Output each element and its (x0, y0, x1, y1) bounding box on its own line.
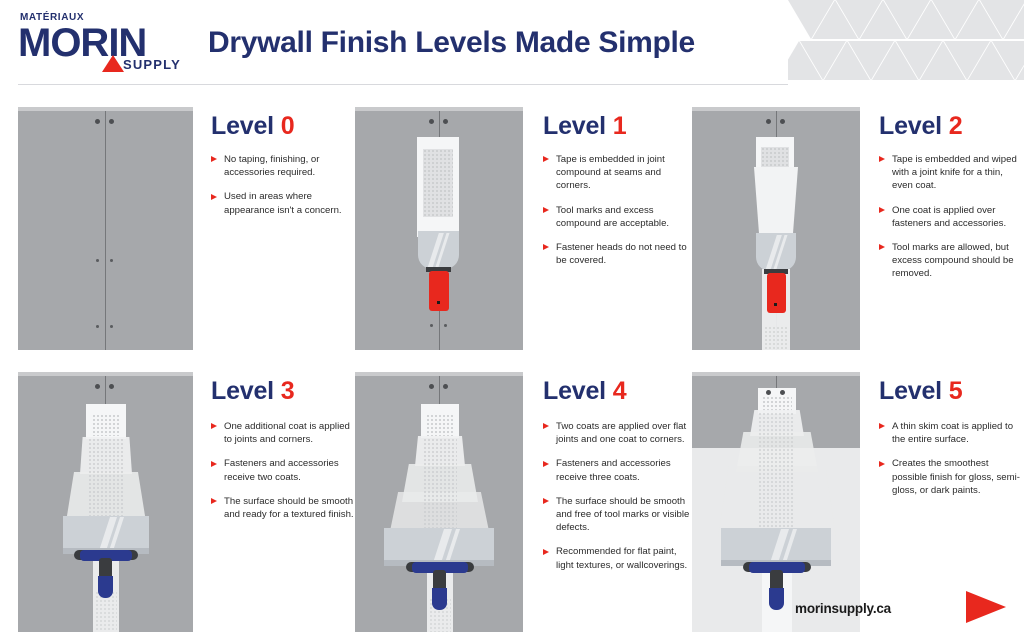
level-label: Level (543, 377, 606, 405)
trowel-grip-end (432, 588, 447, 610)
bullet-triangle-icon (211, 156, 217, 162)
screw-icon (110, 259, 113, 262)
tape-texture (92, 414, 120, 436)
bullet-text: One additional coat is applied to joints… (224, 421, 350, 445)
bullet-triangle-icon (879, 423, 885, 429)
level-card-0: Level 0 No taping, finishing, or accesso… (18, 107, 348, 350)
level-bullets-4: Two coats are applied over flat joints a… (543, 420, 691, 572)
bullet-triangle-icon (211, 461, 217, 467)
level-number: 1 (613, 112, 627, 140)
level-heading-5: Level 5 (879, 377, 962, 406)
level-card-3: Level 3 One additional coat is applied t… (18, 372, 348, 632)
wall-seam (105, 111, 106, 350)
level-text-1: Level 1 Tape is embedded in joint compou… (543, 112, 688, 278)
trowel-grip-end (769, 588, 784, 610)
level-text-4: Level 4 Two coats are applied over flat … (543, 420, 691, 583)
level-label: Level (879, 377, 942, 405)
bullet-triangle-icon (543, 461, 549, 467)
screw-icon (96, 325, 99, 328)
triangle-icon (1016, 41, 1024, 80)
tape-texture (762, 396, 792, 412)
level-bullets-0: No taping, finishing, or accessories req… (211, 153, 351, 217)
footer-website-url[interactable]: morinsupply.ca (795, 601, 891, 616)
bullet-triangle-icon (543, 423, 549, 429)
bullet-triangle-icon (879, 461, 885, 467)
knife-handle (767, 273, 786, 313)
screw-icon (109, 384, 114, 389)
list-item: The surface should be smooth and ready f… (211, 495, 354, 521)
page-title: Drywall Finish Levels Made Simple (208, 26, 695, 60)
list-item: Recommended for flat paint, light textur… (543, 545, 691, 571)
bullet-triangle-icon (211, 423, 217, 429)
level-label: Level (211, 377, 274, 405)
level-text-3: Level 3 One additional coat is applied t… (211, 420, 354, 532)
screw-icon (109, 119, 114, 124)
bullet-triangle-icon (543, 498, 549, 504)
level-text-2: Level 2 Tape is embedded and wiped with … (879, 112, 1024, 292)
level-number: 5 (949, 377, 963, 405)
bullet-text: Fasteners and accessories receive two co… (224, 458, 339, 482)
bullet-text: Tape is embedded and wiped with a joint … (892, 154, 1017, 191)
list-item: No taping, finishing, or accessories req… (211, 153, 351, 179)
list-item: A thin skim coat is applied to the entir… (879, 420, 1024, 446)
screw-icon (429, 384, 434, 389)
screw-icon (95, 384, 100, 389)
screw-icon (443, 384, 448, 389)
list-item: Fastener heads do not need to be covered… (543, 241, 688, 267)
tape-texture (758, 412, 794, 538)
bullet-text: A thin skim coat is applied to the entir… (892, 421, 1013, 445)
list-item: One additional coat is applied to joints… (211, 420, 354, 446)
level-bullets-5: A thin skim coat is applied to the entir… (879, 420, 1024, 497)
bullet-triangle-icon (879, 156, 885, 162)
logo-tagline: SUPPLY (123, 57, 181, 72)
screw-icon (96, 259, 99, 262)
header-divider (18, 84, 788, 85)
list-item: Fasteners and accessories receive two co… (211, 457, 354, 483)
logo-triangle-icon (102, 55, 124, 72)
screw-icon (430, 324, 433, 327)
bullet-text: No taping, finishing, or accessories req… (224, 154, 319, 178)
list-item: Creates the smoothest possible finish fo… (879, 457, 1024, 497)
bullet-text: Tape is embedded in joint compound at se… (556, 154, 665, 191)
level-illustration-3 (18, 372, 193, 632)
level-label: Level (543, 112, 606, 140)
level-illustration-5 (692, 372, 860, 632)
list-item: Fasteners and accessories receive three … (543, 457, 691, 483)
bullet-text: Creates the smoothest possible finish fo… (892, 458, 1020, 495)
level-heading-3: Level 3 (211, 377, 294, 406)
level-text-5: Level 5 A thin skim coat is applied to t… (879, 420, 1024, 508)
level-label: Level (879, 112, 942, 140)
bullet-text: Fastener heads do not need to be covered… (556, 242, 687, 266)
header: MATÉRIAUX MORIN SUPPLY Drywall Finish Le… (0, 0, 1024, 86)
screw-icon (780, 390, 785, 395)
tape-texture (761, 147, 789, 167)
level-number: 3 (281, 377, 295, 405)
level-text-0: Level 0 No taping, finishing, or accesso… (211, 112, 351, 228)
list-item: Tool marks are allowed, but excess compo… (879, 241, 1024, 281)
bullet-triangle-icon (879, 244, 885, 250)
bullet-triangle-icon (211, 498, 217, 504)
level-label: Level (211, 112, 274, 140)
company-logo: MATÉRIAUX MORIN SUPPLY (18, 12, 183, 74)
list-item: Tape is embedded in joint compound at se… (543, 153, 688, 193)
bullet-text: The surface should be smooth and ready f… (224, 496, 354, 520)
tape-texture (88, 438, 124, 524)
list-item: Used in areas where appearance isn't a c… (211, 190, 351, 216)
screw-icon (766, 119, 771, 124)
level-bullets-3: One additional coat is applied to joints… (211, 420, 354, 521)
bullet-text: Tool marks and excess compound are accep… (556, 205, 669, 229)
level-bullets-2: Tape is embedded and wiped with a joint … (879, 153, 1024, 281)
level-number: 4 (613, 377, 627, 405)
screw-icon (766, 390, 771, 395)
tape-texture (423, 438, 457, 538)
level-card-1: Level 1 Tape is embedded in joint compou… (355, 107, 690, 350)
bullet-text: Recommended for flat paint, light textur… (556, 546, 687, 570)
tape-texture (764, 326, 788, 350)
list-item: The surface should be smooth and free of… (543, 495, 691, 535)
bullet-triangle-icon (543, 156, 549, 162)
level-card-2: Level 2 Tape is embedded and wiped with … (692, 107, 1024, 350)
bullet-triangle-icon (211, 194, 217, 200)
footer-arrow-icon (966, 591, 1006, 623)
list-item: Tape is embedded and wiped with a joint … (879, 153, 1024, 193)
bullet-triangle-icon (543, 549, 549, 555)
bullet-triangle-icon (879, 207, 885, 213)
screw-icon (110, 325, 113, 328)
bullet-text: One coat is applied over fasteners and a… (892, 205, 1006, 229)
triangle-pattern-decoration (788, 0, 1024, 80)
bullet-triangle-icon (543, 244, 549, 250)
level-illustration-4 (355, 372, 523, 632)
screw-icon (429, 119, 434, 124)
screw-icon (95, 119, 100, 124)
level-heading-0: Level 0 (211, 112, 351, 141)
level-card-4: Level 4 Two coats are applied over flat … (355, 372, 690, 632)
list-item: Tool marks and excess compound are accep… (543, 204, 688, 230)
trowel-grip-end (98, 576, 113, 598)
level-heading-1: Level 1 (543, 112, 688, 141)
level-heading-4: Level 4 (543, 377, 626, 406)
screw-icon (444, 324, 447, 327)
triangle-row (788, 41, 1024, 80)
tape-texture (423, 149, 453, 217)
knife-handle (429, 271, 449, 311)
bullet-text: Two coats are applied over flat joints a… (556, 421, 686, 445)
level-illustration-0 (18, 107, 193, 350)
screw-icon (443, 119, 448, 124)
handle-hole-icon (437, 301, 440, 304)
level-number: 0 (281, 112, 295, 140)
level-number: 2 (949, 112, 963, 140)
level-heading-2: Level 2 (879, 112, 1024, 141)
bullet-triangle-icon (543, 207, 549, 213)
level-bullets-1: Tape is embedded in joint compound at se… (543, 153, 688, 267)
triangle-icon (1004, 0, 1024, 39)
bullet-text: Tool marks are allowed, but excess compo… (892, 242, 1014, 279)
bullet-text: Used in areas where appearance isn't a c… (224, 191, 342, 215)
screw-icon (780, 119, 785, 124)
triangle-row (788, 0, 1024, 40)
bullet-text: Fasteners and accessories receive three … (556, 458, 671, 482)
level-illustration-1 (355, 107, 523, 350)
handle-hole-icon (774, 303, 777, 306)
list-item: One coat is applied over fasteners and a… (879, 204, 1024, 230)
infographic-page: MATÉRIAUX MORIN SUPPLY Drywall Finish Le… (0, 0, 1024, 640)
level-illustration-2 (692, 107, 860, 350)
list-item: Two coats are applied over flat joints a… (543, 420, 691, 446)
bullet-text: The surface should be smooth and free of… (556, 496, 689, 533)
compound-coat (754, 167, 798, 237)
tape-texture (426, 414, 454, 436)
